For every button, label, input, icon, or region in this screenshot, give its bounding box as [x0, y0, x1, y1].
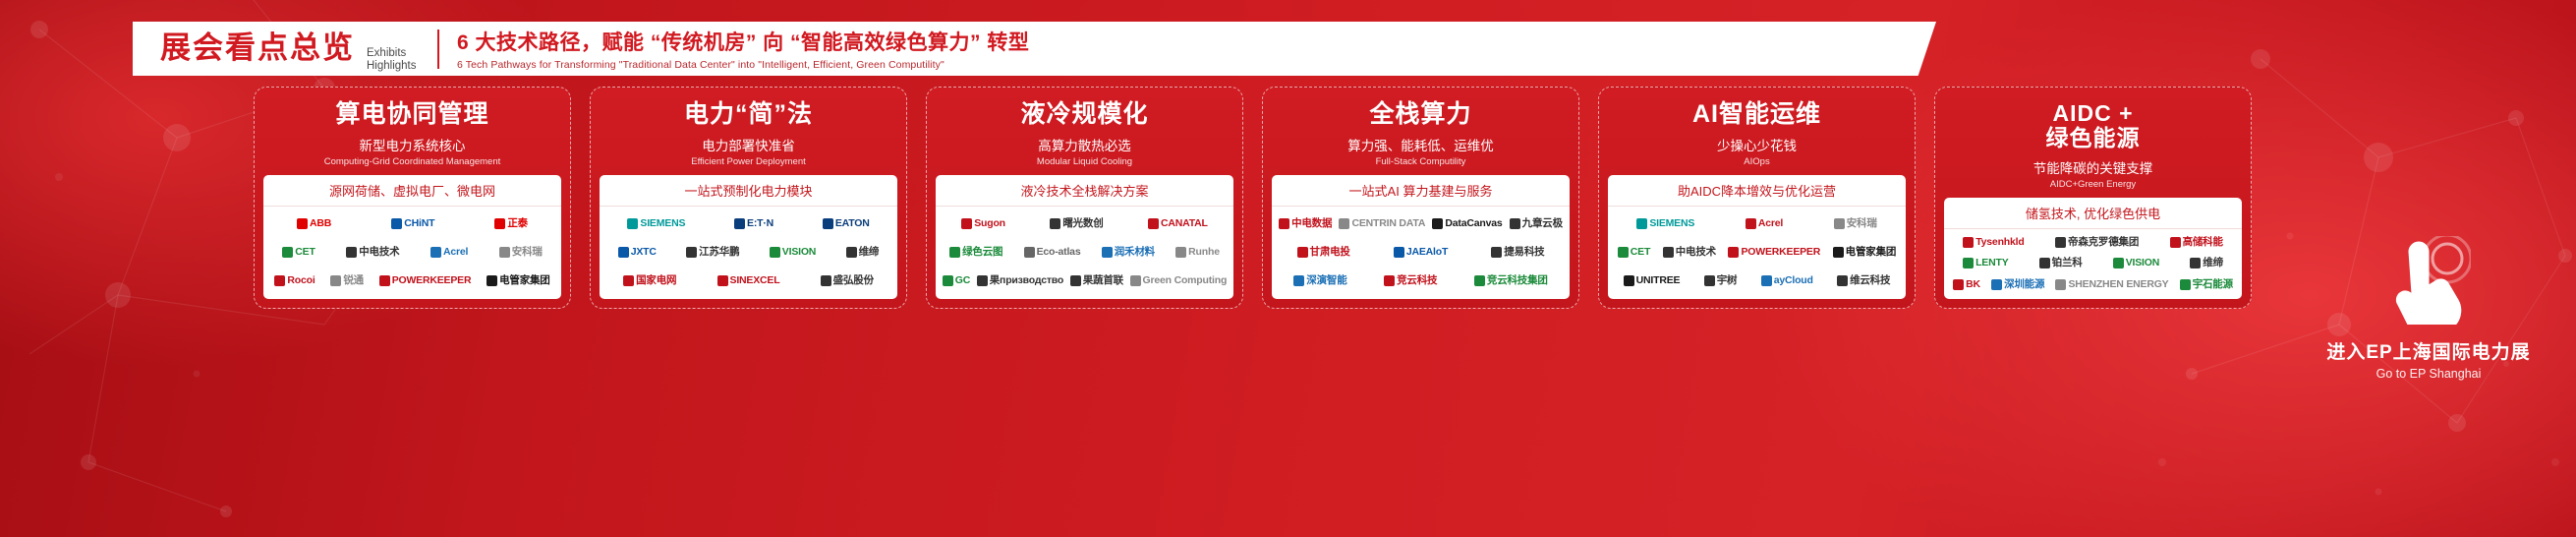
- cta-label-cn: 进入EP上海国际电力展: [2326, 337, 2530, 364]
- logo-text: CENTRIN DATA: [1351, 218, 1425, 229]
- exhibitor-logo[interactable]: 国家电网: [623, 275, 676, 286]
- logo-text: Tysenhkld: [1975, 237, 2024, 248]
- exhibitor-logo[interactable]: 维缔: [2190, 258, 2223, 268]
- logo-mark-icon: [1491, 247, 1502, 258]
- exhibitor-logo[interactable]: 中电技术: [346, 247, 399, 258]
- logo-text: LENTY: [1975, 258, 2008, 268]
- exhibitor-logo[interactable]: Eco-atlas: [1024, 247, 1081, 258]
- logo-text: 九章云极: [1522, 218, 1563, 229]
- logo-mark-icon: [391, 218, 402, 229]
- logo-mark-icon: [1070, 275, 1081, 286]
- exhibitor-logo[interactable]: LENTY: [1963, 258, 2008, 268]
- logo-text: SIEMENS: [640, 218, 685, 229]
- logo-mark-icon: [961, 218, 972, 229]
- page-title-english: Exhibits Highlights: [367, 47, 417, 73]
- logo-mark-icon: [1833, 247, 1844, 258]
- exhibitor-logo[interactable]: E:T·N: [734, 218, 773, 229]
- logo-text: EATON: [835, 218, 870, 229]
- exhibitor-logo[interactable]: Rocoi: [274, 275, 315, 286]
- highlight-card[interactable]: 液冷规模化高算力散热必选Modular Liquid Cooling液冷技术全栈…: [926, 87, 1243, 309]
- card-title: AIDC +绿色能源: [2046, 101, 2141, 150]
- logo-text: CANATAL: [1161, 218, 1208, 229]
- exhibitor-logo[interactable]: Acrel: [1746, 218, 1783, 229]
- exhibitor-logo[interactable]: 宇石能源: [2180, 279, 2233, 290]
- card-subtitle-cn: 高算力散热必选: [1038, 135, 1131, 154]
- logo-text: 中电数据: [1291, 218, 1332, 229]
- exhibitor-logo[interactable]: 果蔬首联: [1070, 275, 1123, 286]
- logo-mark-icon: [977, 275, 988, 286]
- logo-mark-icon: [1624, 275, 1634, 286]
- logo-text: 正泰: [507, 218, 528, 229]
- highlight-card[interactable]: 算电协同管理新型电力系统核心Computing-Grid Coordinated…: [254, 87, 571, 309]
- exhibitor-logo[interactable]: 果призводство: [977, 275, 1063, 286]
- logo-mark-icon: [1297, 247, 1308, 258]
- logo-row: UNITREE宇树ayCloud维云科技: [1614, 268, 1900, 294]
- exhibitor-logo[interactable]: Green Computing: [1130, 275, 1228, 286]
- logo-mark-icon: [379, 275, 390, 286]
- logo-mark-icon: [1991, 279, 2002, 290]
- card-title: 液冷规模化: [1020, 101, 1148, 128]
- exhibitor-logo[interactable]: 深演智能: [1293, 275, 1346, 286]
- logo-text: 安科瑞: [1847, 218, 1877, 229]
- logo-mark-icon: [1384, 275, 1395, 286]
- logo-row: 绿色云图Eco-atlas润禾材料Runhe: [942, 239, 1228, 266]
- exhibitor-logo[interactable]: Acrel: [430, 247, 468, 258]
- highlight-card[interactable]: AI智能运维少操心少花钱AIOps助AIDC降本增效与优化运营SIEMENSAc…: [1598, 87, 1916, 309]
- logo-mark-icon: [1102, 247, 1113, 258]
- exhibitor-logo[interactable]: DataCanvas: [1432, 218, 1502, 229]
- logo-text: Runhe: [1188, 247, 1220, 258]
- hand-pointer-icon: [2386, 236, 2471, 329]
- logo-mark-icon: [1130, 275, 1141, 286]
- card-subtitle-en: AIDC+Green Energy: [2050, 179, 2136, 190]
- logo-text: CHiNT: [404, 218, 434, 229]
- card-subtitle-cn: 节能降碳的关键支撑: [2033, 157, 2153, 177]
- exhibitor-logo[interactable]: 盛弘股份: [821, 275, 874, 286]
- exhibitor-logo[interactable]: Tysenhkld: [1963, 237, 2024, 248]
- exhibitor-logo[interactable]: SIEMENS: [1636, 218, 1694, 229]
- logo-text: 中电技术: [1676, 247, 1716, 258]
- logo-mark-icon: [1024, 247, 1035, 258]
- logo-mark-icon: [499, 247, 510, 258]
- exhibitor-logo[interactable]: 安科瑞: [1834, 218, 1877, 229]
- logo-mark-icon: [734, 218, 745, 229]
- logo-text: ayCloud: [1774, 275, 1813, 286]
- logo-row: 甘肃电投JAEAloT捷易科技: [1278, 239, 1564, 266]
- exhibitor-logo[interactable]: CANATAL: [1148, 218, 1208, 229]
- exhibitor-logo[interactable]: 正泰: [494, 218, 528, 229]
- logo-text: SIEMENS: [1649, 218, 1694, 229]
- logo-mark-icon: [2039, 258, 2050, 268]
- logo-mark-icon: [1394, 247, 1404, 258]
- logo-text: VISION: [2126, 258, 2159, 268]
- card-subtitle-cn: 新型电力系统核心: [360, 135, 466, 154]
- logo-text: 竞云科技集团: [1487, 275, 1548, 286]
- logo-text: 高储科能: [2183, 237, 2223, 248]
- logo-row: 中电数据CENTRIN DATADataCanvas九章云极: [1278, 210, 1564, 237]
- exhibitor-logo[interactable]: 宇树: [1704, 275, 1738, 286]
- logo-mark-icon: [494, 218, 505, 229]
- logo-text: JXTC: [631, 247, 657, 258]
- logo-text: 捷易科技: [1504, 247, 1544, 258]
- logo-text: 竞云科技: [1397, 275, 1437, 286]
- logo-mark-icon: [1963, 258, 1974, 268]
- logo-text: 润禾材料: [1115, 247, 1155, 258]
- card-title: 全栈算力: [1369, 101, 1471, 128]
- headline-subtitle: 6 Tech Pathways for Transforming "Tradit…: [457, 59, 1029, 71]
- exhibitor-logo[interactable]: Sugon: [961, 218, 1005, 229]
- logo-mark-icon: [1963, 237, 1974, 248]
- exhibitor-logo[interactable]: SHENZHEN ENERGY: [2055, 279, 2168, 290]
- logo-text: Rocoi: [287, 275, 315, 286]
- header-title-group: 展会看点总览 Exhibits Highlights: [133, 23, 428, 75]
- exhibitor-logo[interactable]: GC: [943, 275, 970, 286]
- exhibitor-logo[interactable]: 甘肃电投: [1297, 247, 1350, 258]
- logo-mark-icon: [823, 218, 833, 229]
- exhibitor-logo[interactable]: POWERKEEPER: [379, 275, 472, 286]
- logo-row: 深演智能竞云科技竞云科技集团: [1278, 268, 1564, 294]
- logo-text: 果призводство: [990, 275, 1063, 286]
- logo-mark-icon: [487, 275, 497, 286]
- logo-text: 铂兰科: [2052, 258, 2083, 268]
- exhibitor-logo[interactable]: 电管家集团: [487, 275, 550, 286]
- exhibitor-logo[interactable]: 中电数据: [1279, 218, 1332, 229]
- logo-mark-icon: [1953, 279, 1964, 290]
- logo-mark-icon: [1293, 275, 1304, 286]
- card-subtitle-cn: 少操心少花钱: [1717, 135, 1797, 154]
- exhibitor-logo[interactable]: SINEXCEL: [717, 275, 780, 286]
- headline: 6 大技术路径，赋能 “传统机房” 向 “智能高效绿色算力” 转型: [457, 27, 1029, 56]
- logo-text: Eco-atlas: [1037, 247, 1081, 258]
- logo-text: 甘肃电投: [1310, 247, 1350, 258]
- logo-text: 宇树: [1717, 275, 1738, 286]
- card-subtitle-en: Computing-Grid Coordinated Management: [324, 156, 501, 167]
- logo-mark-icon: [1837, 275, 1848, 286]
- logo-row: BK深圳能源SHENZHEN ENERGY宇石能源: [1950, 275, 2236, 294]
- exhibitor-logo[interactable]: ABB: [297, 218, 331, 229]
- card-subtitle-en: Modular Liquid Cooling: [1037, 156, 1132, 167]
- logo-row: LENTY铂兰科VISION维缔: [1950, 254, 2236, 272]
- logo-text: 安科瑞: [512, 247, 543, 258]
- exhibitor-logo[interactable]: 润禾材料: [1102, 247, 1155, 258]
- logo-panel: Tysenhkld帝森克罗德集团高储科能LENTY铂兰科VISION维缔BK深圳…: [1944, 228, 2242, 299]
- logo-text: POWERKEEPER: [392, 275, 472, 286]
- card-subtitle-en: Efficient Power Deployment: [691, 156, 806, 167]
- exhibitor-logo[interactable]: 深圳能源: [1991, 279, 2044, 290]
- highlight-card[interactable]: AIDC +绿色能源节能降碳的关键支撑AIDC+Green Energy储氢技术…: [1934, 87, 2252, 309]
- logo-text: POWERKEEPER: [1741, 247, 1820, 258]
- header-divider: [437, 30, 439, 69]
- logo-text: BK: [1966, 279, 1980, 290]
- card-subtitle-en: Full-Stack Computility: [1376, 156, 1466, 167]
- card-pill-label: 助AIDC降本增效与优化运营: [1608, 175, 1906, 206]
- exhibitor-logo[interactable]: 安科瑞: [499, 247, 543, 258]
- highlight-card[interactable]: 电力“简”法电力部署快准省Efficient Power Deployment一…: [590, 87, 907, 309]
- logo-mark-icon: [717, 275, 728, 286]
- logo-mark-icon: [1746, 218, 1756, 229]
- exhibitor-logo[interactable]: CHiNT: [391, 218, 434, 229]
- logo-mark-icon: [1510, 218, 1520, 229]
- logo-mark-icon: [2180, 279, 2191, 290]
- logo-panel: 中电数据CENTRIN DATADataCanvas九章云极甘肃电投JAEAlo…: [1272, 206, 1570, 299]
- logo-text: Green Computing: [1143, 275, 1228, 286]
- logo-mark-icon: [1618, 247, 1629, 258]
- exhibitor-logo[interactable]: 高储科能: [2170, 237, 2223, 248]
- logo-row: Tysenhkld帝森克罗德集团高储科能: [1950, 233, 2236, 252]
- logo-row: GC果призводство果蔬首联Green Computing: [942, 268, 1228, 294]
- exhibitor-logo[interactable]: EATON: [823, 218, 870, 229]
- logo-text: CET: [1631, 247, 1650, 258]
- exhibitor-logo[interactable]: 竞云科技集团: [1474, 275, 1548, 286]
- logo-text: DataCanvas: [1445, 218, 1502, 229]
- exhibitor-logo[interactable]: VISION: [2113, 258, 2159, 268]
- logo-row: SIEMENSAcrel安科瑞: [1614, 210, 1900, 237]
- logo-text: 宇石能源: [2193, 279, 2233, 290]
- logo-mark-icon: [274, 275, 285, 286]
- card-pill-label: 源网荷储、虚拟电厂、微电网: [263, 175, 561, 206]
- logo-row: Sugon曙光数创CANATAL: [942, 210, 1228, 237]
- page-title-english-line1: Exhibits: [367, 47, 406, 59]
- exhibitor-logo[interactable]: CENTRIN DATA: [1339, 218, 1425, 229]
- card-pill-label: 储氢技术, 优化绿色供电: [1944, 198, 2242, 228]
- logo-text: 维缔: [2203, 258, 2223, 268]
- exhibitor-logo[interactable]: 竞云科技: [1384, 275, 1437, 286]
- logo-text: E:T·N: [747, 218, 773, 229]
- logo-text: CET: [295, 247, 315, 258]
- logo-text: Sugon: [974, 218, 1005, 229]
- logo-text: 曙光数创: [1062, 218, 1103, 229]
- logo-row: Rocoi锐通POWERKEEPER电管家集团: [269, 268, 555, 294]
- logo-text: GC: [955, 275, 970, 286]
- logo-text: 深圳能源: [2004, 279, 2044, 290]
- exhibitor-logo[interactable]: 电管家集团: [1833, 247, 1897, 258]
- logo-mark-icon: [623, 275, 634, 286]
- logo-panel: SIEMENSE:T·NEATONJXTC江苏华鹏VISION维缔国家电网SIN…: [600, 206, 897, 299]
- exhibitor-logo[interactable]: 帝森克罗德集团: [2055, 237, 2139, 248]
- cta-group[interactable]: 进入EP上海国际电力展 Go to EP Shanghai: [2296, 236, 2561, 381]
- logo-text: 锐通: [343, 275, 364, 286]
- logo-text: Acrel: [1758, 218, 1783, 229]
- logo-mark-icon: [282, 247, 293, 258]
- logo-mark-icon: [346, 247, 357, 258]
- logo-text: 电管家集团: [1846, 247, 1897, 258]
- logo-mark-icon: [2170, 237, 2181, 248]
- logo-mark-icon: [297, 218, 308, 229]
- logo-mark-icon: [627, 218, 638, 229]
- exhibitor-logo[interactable]: 铂兰科: [2039, 258, 2083, 268]
- logo-row: CET中电技术POWERKEEPER电管家集团: [1614, 239, 1900, 266]
- exhibitor-logo[interactable]: UNITREE: [1624, 275, 1681, 286]
- exhibitor-logo[interactable]: SIEMENS: [627, 218, 685, 229]
- logo-mark-icon: [1663, 247, 1674, 258]
- logo-mark-icon: [846, 247, 857, 258]
- logo-text: ABB: [310, 218, 331, 229]
- logo-text: 电管家集团: [499, 275, 550, 286]
- logo-text: 盛弘股份: [833, 275, 874, 286]
- exhibitor-logo[interactable]: 绿色云图: [949, 247, 1002, 258]
- logo-mark-icon: [1175, 247, 1186, 258]
- exhibitor-logo[interactable]: 捷易科技: [1491, 247, 1544, 258]
- highlight-cards: 算电协同管理新型电力系统核心Computing-Grid Coordinated…: [254, 87, 2280, 309]
- exhibitor-logo[interactable]: JAEAloT: [1394, 247, 1448, 258]
- logo-text: 江苏华鹏: [699, 247, 739, 258]
- logo-row: ABBCHiNT正泰: [269, 210, 555, 237]
- card-pill-label: 一站式预制化电力模块: [600, 175, 897, 206]
- logo-mark-icon: [943, 275, 953, 286]
- logo-mark-icon: [1636, 218, 1647, 229]
- logo-mark-icon: [1432, 218, 1443, 229]
- logo-mark-icon: [1474, 275, 1485, 286]
- card-title: AI智能运维: [1692, 101, 1821, 128]
- logo-text: 维缔: [859, 247, 880, 258]
- logo-text: 果蔬首联: [1083, 275, 1123, 286]
- page-title-english-line2: Highlights: [367, 60, 417, 72]
- logo-text: 中电技术: [359, 247, 399, 258]
- card-title: 电力“简”法: [684, 101, 813, 128]
- logo-mark-icon: [2055, 237, 2066, 248]
- logo-row: JXTC江苏华鹏VISION维缔: [605, 239, 891, 266]
- logo-mark-icon: [2190, 258, 2201, 268]
- page-title: 展会看点总览: [160, 23, 355, 67]
- card-pill-label: 液冷技术全栈解决方案: [936, 175, 1233, 206]
- exhibitor-logo[interactable]: 维云科技: [1837, 275, 1890, 286]
- logo-mark-icon: [770, 247, 780, 258]
- card-subtitle-cn: 算力强、能耗低、运维优: [1347, 135, 1494, 154]
- logo-row: CET中电技术Acrel安科瑞: [269, 239, 555, 266]
- logo-mark-icon: [1148, 218, 1159, 229]
- logo-mark-icon: [330, 275, 341, 286]
- card-title: 算电协同管理: [335, 101, 488, 128]
- header-headline-group: 6 大技术路径，赋能 “传统机房” 向 “智能高效绿色算力” 转型 6 Tech…: [457, 27, 1029, 71]
- logo-mark-icon: [1834, 218, 1845, 229]
- exhibitor-logo[interactable]: ayCloud: [1761, 275, 1813, 286]
- cta-label-en: Go to EP Shanghai: [2376, 367, 2482, 381]
- exhibitor-logo[interactable]: 曙光数创: [1050, 218, 1103, 229]
- logo-mark-icon: [1050, 218, 1060, 229]
- logo-mark-icon: [949, 247, 960, 258]
- logo-mark-icon: [1728, 247, 1739, 258]
- logo-text: 维云科技: [1850, 275, 1890, 286]
- exhibitor-logo[interactable]: 维缔: [846, 247, 880, 258]
- exhibitor-logo[interactable]: 九章云极: [1510, 218, 1563, 229]
- exhibitor-logo[interactable]: CET: [282, 247, 315, 258]
- logo-mark-icon: [1339, 218, 1349, 229]
- logo-text: 绿色云图: [962, 247, 1002, 258]
- logo-row: 国家电网SINEXCEL盛弘股份: [605, 268, 891, 294]
- logo-text: Acrel: [443, 247, 468, 258]
- logo-mark-icon: [821, 275, 831, 286]
- logo-mark-icon: [430, 247, 441, 258]
- logo-mark-icon: [686, 247, 697, 258]
- exhibitor-logo[interactable]: 中电技术: [1663, 247, 1716, 258]
- logo-mark-icon: [1279, 218, 1289, 229]
- logo-mark-icon: [2113, 258, 2124, 268]
- logo-row: SIEMENSE:T·NEATON: [605, 210, 891, 237]
- exhibitor-logo[interactable]: 锐通: [330, 275, 364, 286]
- logo-mark-icon: [1704, 275, 1715, 286]
- logo-mark-icon: [2055, 279, 2066, 290]
- card-subtitle-en: AIOps: [1744, 156, 1769, 167]
- logo-panel: ABBCHiNT正泰CET中电技术Acrel安科瑞Rocoi锐通POWERKEE…: [263, 206, 561, 299]
- logo-text: 深演智能: [1306, 275, 1346, 286]
- logo-text: VISION: [782, 247, 816, 258]
- logo-text: SHENZHEN ENERGY: [2068, 279, 2168, 290]
- logo-text: UNITREE: [1636, 275, 1681, 286]
- logo-text: JAEAloT: [1406, 247, 1448, 258]
- logo-text: SINEXCEL: [730, 275, 780, 286]
- card-pill-label: 一站式AI 算力基建与服务: [1272, 175, 1570, 206]
- exhibitor-logo[interactable]: CET: [1618, 247, 1650, 258]
- exhibitor-logo[interactable]: BK: [1953, 279, 1980, 290]
- header-banner: 展会看点总览 Exhibits Highlights 6 大技术路径，赋能 “传…: [133, 22, 1936, 76]
- highlight-card[interactable]: 全栈算力算力强、能耗低、运维优Full-Stack Computility一站式…: [1262, 87, 1579, 309]
- exhibitor-logo[interactable]: 江苏华鹏: [686, 247, 739, 258]
- exhibitor-logo[interactable]: VISION: [770, 247, 816, 258]
- logo-panel: SIEMENSAcrel安科瑞CET中电技术POWERKEEPER电管家集团UN…: [1608, 206, 1906, 299]
- logo-mark-icon: [1761, 275, 1772, 286]
- exhibitor-logo[interactable]: JXTC: [618, 247, 657, 258]
- logo-panel: Sugon曙光数创CANATAL绿色云图Eco-atlas润禾材料RunheGC…: [936, 206, 1233, 299]
- exhibitor-logo[interactable]: POWERKEEPER: [1728, 247, 1820, 258]
- logo-text: 国家电网: [636, 275, 676, 286]
- exhibitor-logo[interactable]: Runhe: [1175, 247, 1220, 258]
- card-subtitle-cn: 电力部署快准省: [702, 135, 795, 154]
- logo-mark-icon: [618, 247, 629, 258]
- logo-text: 帝森克罗德集团: [2068, 237, 2139, 248]
